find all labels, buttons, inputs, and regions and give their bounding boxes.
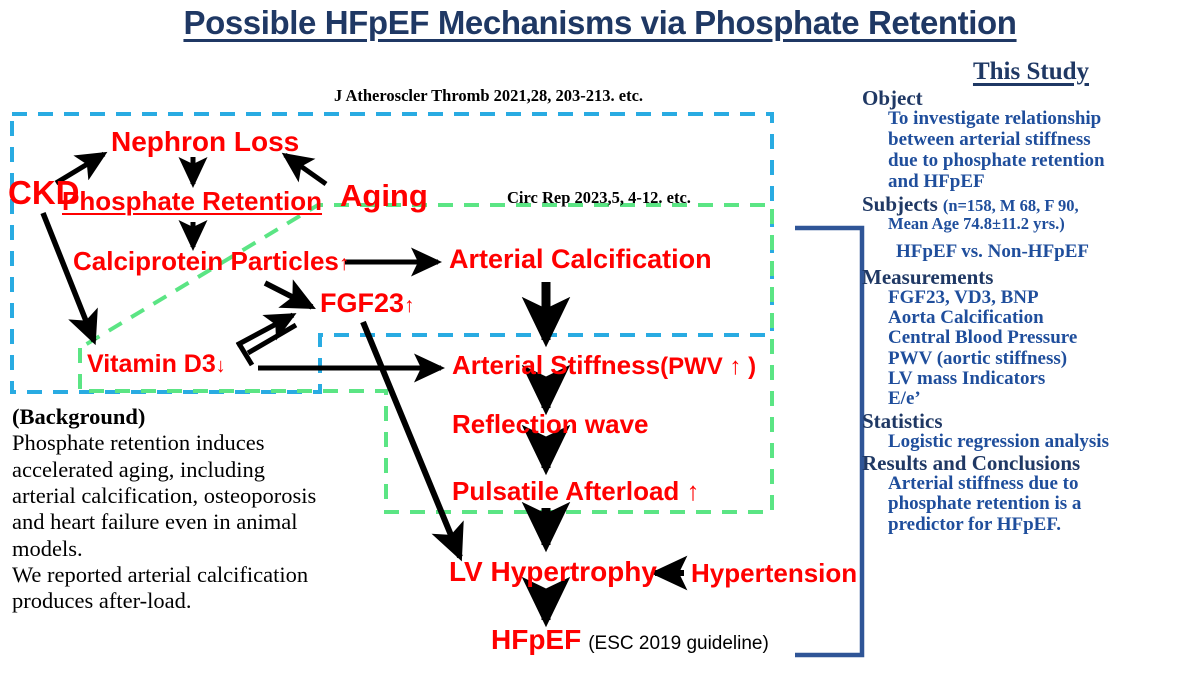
arrow-aging-to-nephron [285,155,326,184]
study-results-line: predictor for HFpEF. [862,515,1200,535]
study-results-line: Arterial stiffness due to [862,474,1200,494]
study-subjects-label: Subjects [862,192,938,216]
node-hfpef: HFpEF(ESC 2019 guideline) [491,626,769,654]
up-arrow-icon: ↑ [339,252,350,275]
study-object-line: and HFpEF [862,172,1200,193]
study-title: This Study [862,58,1200,86]
node-pulsatile-afterload: Pulsatile Afterload ↑ [452,478,700,504]
study-measurement-item: Central Blood Pressure [862,328,1200,348]
slide-canvas: Possible HFpEF Mechanisms via Phosphate … [0,0,1200,675]
node-hfpef-label: HFpEF [491,624,581,655]
study-bracket [795,228,862,655]
study-object-heading: Object [862,87,1200,109]
node-fgf23-label: FGF23 [320,288,404,318]
study-measurement-item: LV mass Indicators [862,369,1200,389]
study-measurement-item: E/e’ [862,389,1200,409]
pwv-suffix: (PWV ↑ ) [660,353,756,380]
down-arrow-icon: ↓ [216,355,226,377]
study-subjects-heading: Subjects(n=158, M 68, F 90, [862,193,1200,215]
study-object-line: due to phosphate retention [862,151,1200,172]
study-object-line: between arterial stiffness [862,130,1200,151]
node-fgf23: FGF23↑ [320,290,415,317]
study-panel: This Study Object To investigate relatio… [862,58,1200,535]
node-nephron-loss: Nephron Loss [111,128,299,156]
node-aging: Aging [340,180,428,211]
study-comparison: HFpEF vs. Non-HFpEF [862,242,1200,263]
study-measurements-heading: Measurements [862,266,1200,288]
study-object-line: To investigate relationship [862,109,1200,130]
node-arterial-stiffness-label: Arterial Stiffness [452,350,660,380]
background-line: arterial calcification, osteoporosis [12,483,412,509]
node-hypertension: Hypertension [691,560,857,586]
study-subjects-detail2: Mean Age 74.8±11.2 yrs.) [862,215,1200,233]
inhibition-tbar [238,342,252,365]
node-calciprotein-particles: Calciprotein Particles↑ [73,248,349,274]
up-arrow-icon: ↑ [404,294,415,317]
arrow-vitamind3-to-fgf23 [237,315,293,345]
study-measurement-item: PWV (aortic stiffness) [862,349,1200,369]
node-vitamin-d3-label: Vitamin D3 [87,350,216,378]
background-line: produces after-load. [12,588,412,614]
node-vitamin-d3: Vitamin D3↓ [87,352,226,377]
study-subjects-detail: (n=158, M 68, F 90, [943,196,1079,215]
node-arterial-stiffness: Arterial Stiffness(PWV ↑ ) [452,352,756,379]
study-statistics-heading: Statistics [862,410,1200,432]
arrow-ckd-to-vitamind3 [43,213,94,341]
arrow-fgf23-inhibits-vitamind3 [248,325,296,353]
background-line: Phosphate retention induces [12,430,412,456]
study-measurement-item: Aorta Calcification [862,308,1200,328]
background-heading: (Background) [12,404,412,430]
node-phosphate-retention: Phosphate Retention [62,188,322,214]
node-lv-hypertrophy: LV Hypertrophy [449,558,657,586]
background-line: accelerated aging, including [12,457,412,483]
node-arterial-calcification: Arterial Calcification [449,246,712,273]
citation-circ-rep: Circ Rep 2023,5, 4-12. etc. [507,188,691,208]
study-measurement-item: FGF23, VD3, BNP [862,288,1200,308]
arrow-calciprotein-to-fgf23 [265,283,312,307]
node-reflection-wave: Reflection wave [452,411,649,437]
background-line: We reported arterial calcification [12,562,412,588]
node-calciprotein-label: Calciprotein Particles [73,246,339,276]
citation-atheroscler: J Atheroscler Thromb 2021,28, 203-213. e… [334,86,643,106]
page-title: Possible HFpEF Mechanisms via Phosphate … [0,4,1200,42]
study-statistics-item: Logistic regression analysis [862,432,1200,452]
background-line: and heart failure even in animal [12,509,412,535]
study-results-line: phosphate retention is a [862,494,1200,514]
study-results-heading: Results and Conclusions [862,452,1200,474]
hfpef-guideline-note: (ESC 2019 guideline) [588,633,769,654]
background-line: models. [12,536,412,562]
background-block: (Background) Phosphate retention induces… [12,404,412,615]
